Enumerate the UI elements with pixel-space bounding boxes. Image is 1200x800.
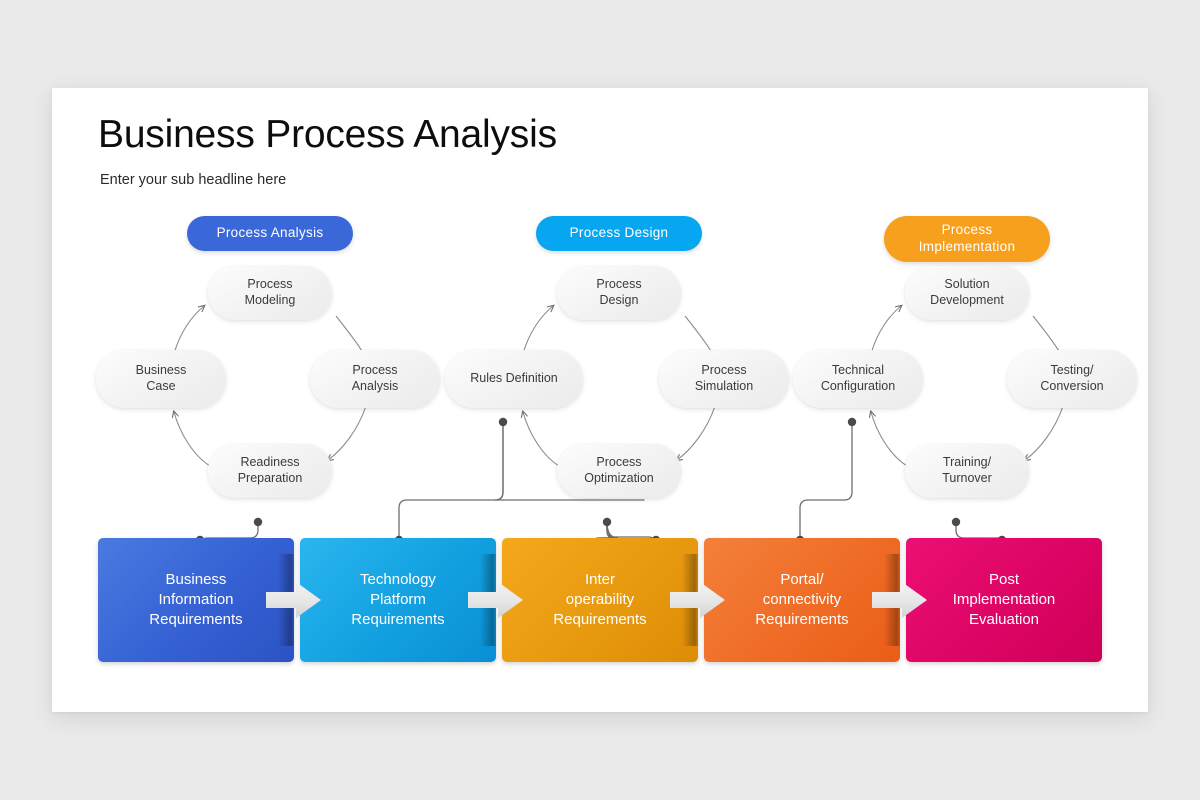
card-line: Requirements xyxy=(351,611,444,628)
cycle-node-process-simulation[interactable]: ProcessSimulation xyxy=(659,350,789,408)
node-line: Simulation xyxy=(695,379,753,393)
node-line: Development xyxy=(930,293,1004,307)
chevron-arrow-right-icon xyxy=(468,581,524,619)
node-line: Training/ xyxy=(943,455,991,469)
slide-stage: Business Process Analysis Enter your sub… xyxy=(0,0,1200,800)
slide-surface: Business Process Analysis Enter your sub… xyxy=(52,88,1148,712)
card-line: operability xyxy=(566,591,634,608)
cluster-header-line: Process xyxy=(942,222,993,237)
node-line: Process xyxy=(596,277,641,291)
node-line: Process xyxy=(247,277,292,291)
chevron-arrow-right-icon xyxy=(670,581,726,619)
card-post-implementation-evaluation[interactable]: Post Implementation Evaluation xyxy=(906,538,1102,662)
node-line: Optimization xyxy=(584,471,653,485)
node-line: Analysis xyxy=(352,379,399,393)
cluster-header-process-design[interactable]: Process Design xyxy=(536,216,702,251)
page-title: Business Process Analysis xyxy=(98,113,557,157)
page-subtitle: Enter your sub headline here xyxy=(100,172,286,188)
cycle-node-business-case[interactable]: BusinessCase xyxy=(96,350,226,408)
card-business-information-requirements[interactable]: Business Information Requirements xyxy=(98,538,294,662)
card-technology-platform-requirements[interactable]: Technology Platform Requirements xyxy=(300,538,496,662)
card-line: Inter xyxy=(585,571,615,588)
cycle-node-testing-conversion[interactable]: Testing/Conversion xyxy=(1007,350,1137,408)
node-line: Modeling xyxy=(245,293,296,307)
cycle-node-rules-definition[interactable]: Rules Definition xyxy=(445,350,583,408)
cycle-node-process-modeling[interactable]: ProcessModeling xyxy=(208,266,332,320)
node-line: Turnover xyxy=(942,471,992,485)
node-line: Conversion xyxy=(1040,379,1103,393)
cycle-node-training-turnover[interactable]: Training/Turnover xyxy=(905,444,1029,498)
cycle-node-solution-development[interactable]: SolutionDevelopment xyxy=(905,266,1029,320)
chevron-arrow-right-icon xyxy=(872,581,928,619)
cluster-header-process-analysis[interactable]: Process Analysis xyxy=(187,216,353,251)
cycle-cluster-process-implementation: Process Implementation SolutionDevelopm xyxy=(787,216,1147,546)
node-line: Configuration xyxy=(821,379,895,393)
card-line: connectivity xyxy=(763,591,841,608)
card-line: Business xyxy=(166,571,227,588)
card-line: Requirements xyxy=(149,611,242,628)
cluster-header-process-implementation[interactable]: Process Implementation xyxy=(884,216,1050,262)
node-line: Design xyxy=(600,293,639,307)
process-card-row: Business Information Requirements Techno… xyxy=(98,538,1104,662)
node-line: Case xyxy=(146,379,175,393)
card-line: Post xyxy=(989,571,1019,588)
cycle-node-process-analysis[interactable]: ProcessAnalysis xyxy=(310,350,440,408)
cycle-node-readiness-preparation[interactable]: ReadinessPreparation xyxy=(208,444,332,498)
node-line: Process xyxy=(596,455,641,469)
node-line: Readiness xyxy=(240,455,299,469)
node-line: Technical xyxy=(832,363,884,377)
cycle-cluster-process-design: Process Design ProcessDesign Pr xyxy=(439,216,799,546)
card-portal-connectivity-requirements[interactable]: Portal/ connectivity Requirements xyxy=(704,538,900,662)
cycle-cluster-process-analysis: Process Analysis ProcessModeling xyxy=(90,216,450,546)
card-interoperability-requirements[interactable]: Inter operability Requirements xyxy=(502,538,698,662)
card-line: Evaluation xyxy=(969,611,1039,628)
card-line: Portal/ xyxy=(780,571,823,588)
card-line: Technology xyxy=(360,571,436,588)
card-line: Requirements xyxy=(755,611,848,628)
node-line: Process xyxy=(352,363,397,377)
chevron-arrow-right-icon xyxy=(266,581,322,619)
card-line: Requirements xyxy=(553,611,646,628)
node-line: Preparation xyxy=(238,471,303,485)
card-line: Platform xyxy=(370,591,426,608)
node-line: Business xyxy=(136,363,187,377)
node-line: Rules Definition xyxy=(470,371,558,387)
node-line: Solution xyxy=(944,277,989,291)
node-line: Process xyxy=(701,363,746,377)
card-line: Information xyxy=(158,591,233,608)
cluster-header-line: Implementation xyxy=(919,239,1016,254)
card-line: Implementation xyxy=(953,591,1056,608)
cycle-node-technical-configuration[interactable]: TechnicalConfiguration xyxy=(793,350,923,408)
cycle-node-process-optimization[interactable]: ProcessOptimization xyxy=(557,444,681,498)
node-line: Testing/ xyxy=(1050,363,1093,377)
cycle-node-process-design[interactable]: ProcessDesign xyxy=(557,266,681,320)
